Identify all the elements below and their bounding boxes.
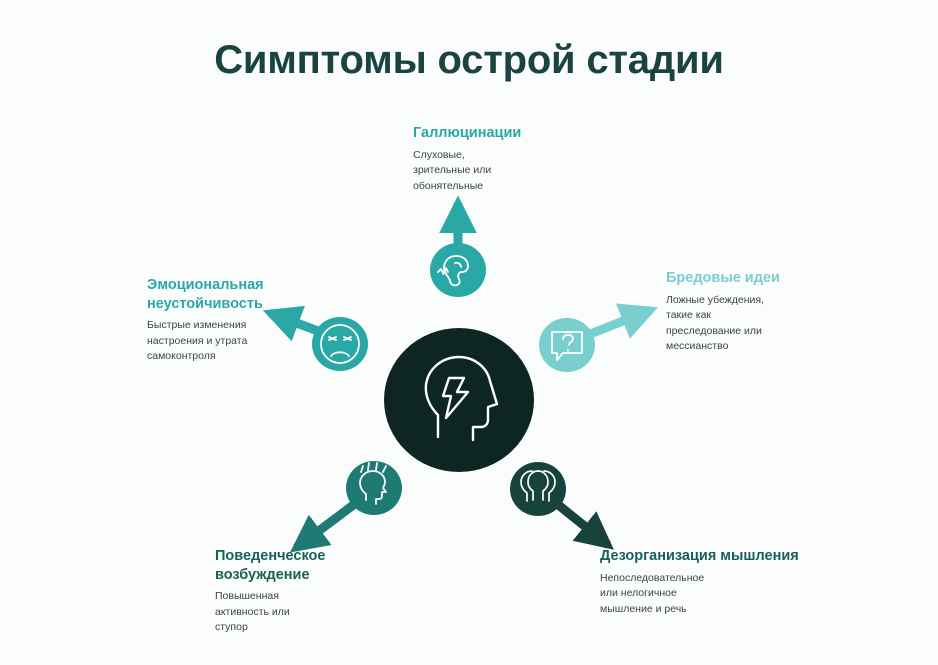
arrow-down-left (296, 500, 360, 548)
callout-delusions: Бредовые идеи Ложные убеждения, такие ка… (666, 269, 866, 355)
callout-body-delusions: Ложные убеждения, такие как преследовани… (666, 293, 866, 355)
callout-body-disorganized: Непоследовательное или нелогичное мышлен… (600, 571, 810, 618)
callout-body-behavioral: Повышенная активность или ступор (215, 589, 415, 636)
callout-body-emotional: Быстрые изменения настроения и утрата са… (147, 318, 337, 365)
callout-hallucinations: Галлюцинации Слуховые, зрительные или об… (413, 124, 603, 194)
callout-heading-emotional: Эмоциональная неустойчивость (147, 276, 337, 313)
callout-heading-behavioral: Поведенческое возбуждение (215, 547, 415, 584)
callout-heading-delusions: Бредовые идеи (666, 269, 866, 288)
callout-disorganized: Дезорганизация мышления Непоследовательн… (600, 547, 810, 617)
node-disorganized[interactable] (510, 462, 566, 516)
callout-heading-hallucinations: Галлюцинации (413, 124, 603, 143)
callout-behavioral: Поведенческое возбуждение Повышенная акт… (215, 547, 415, 636)
callout-heading-disorganized: Дезорганизация мышления (600, 547, 810, 566)
callout-body-hallucinations: Слуховые, зрительные или обонятельные (413, 148, 603, 195)
callout-emotional: Эмоциональная неустойчивость Быстрые изм… (147, 276, 337, 365)
center-node[interactable] (384, 328, 534, 472)
node-delusions[interactable] (539, 318, 595, 372)
node-behavioral[interactable] (346, 461, 402, 515)
node-hallucinations[interactable] (430, 243, 486, 297)
infographic-canvas: Симптомы острой стадии (0, 0, 938, 665)
